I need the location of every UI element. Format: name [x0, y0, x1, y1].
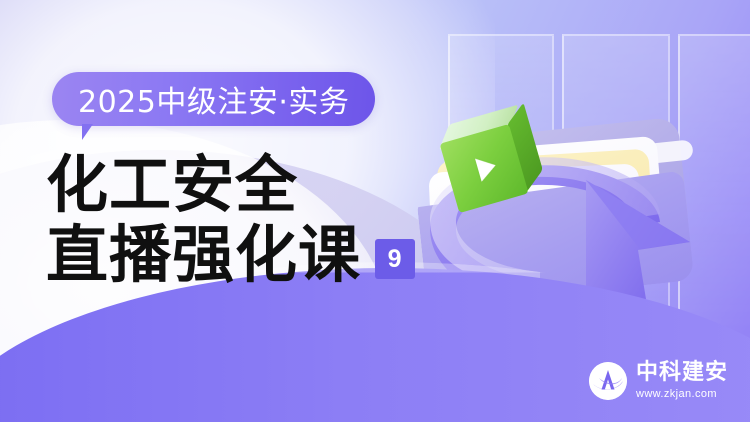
course-promo-banner: 2025中级注安·实务 化工安全 直播强化课 9 中科建安 www.zkjan.… — [0, 0, 750, 422]
brand-name: 中科建安 — [636, 362, 728, 384]
zkjan-emblem-icon — [589, 362, 627, 400]
title-line-1-wrapper: 化工安全 — [46, 150, 415, 220]
zkjan-emblem-svg — [589, 362, 627, 400]
brand-url: www.zkjan.com — [636, 389, 728, 400]
title-line-2: 直播强化课 — [46, 220, 361, 290]
course-category-badge-label: 2025中级注安·实务 — [78, 77, 349, 121]
title-line-2-wrapper: 直播强化课 9 — [46, 220, 415, 290]
brand-logo-text: 中科建安 www.zkjan.com — [636, 362, 728, 400]
episode-number-badge: 9 — [375, 239, 415, 279]
page-title: 化工安全 直播强化课 9 — [46, 150, 415, 290]
brand-logo: 中科建安 www.zkjan.com — [589, 362, 728, 400]
course-category-badge: 2025中级注安·实务 — [52, 72, 375, 126]
play-triangle-icon — [475, 154, 499, 182]
title-line-1: 化工安全 — [46, 148, 298, 221]
badge-pointer-tail — [82, 124, 93, 140]
